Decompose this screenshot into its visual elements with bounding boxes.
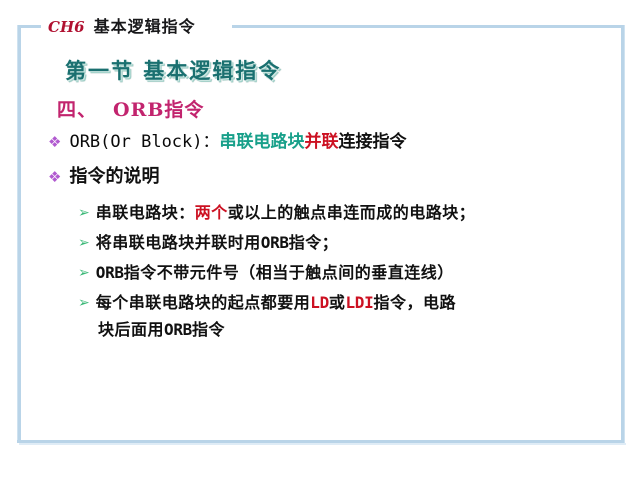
text-segment-mnemonic: ORB bbox=[96, 263, 124, 282]
chapter-title: 基本逻辑指令 bbox=[94, 13, 196, 37]
bullet-segment: ORB(Or Block)： bbox=[69, 132, 219, 152]
frame-border-left bbox=[17, 25, 21, 443]
list-item: ➢ 将串联电路块并联时用ORB指令； bbox=[78, 231, 338, 255]
frame-border-right bbox=[621, 25, 625, 443]
slide-canvas: CH6 基本逻辑指令 第一节 基本逻辑指令 四、ORB指令 ❖ ORB(Or B… bbox=[0, 0, 640, 480]
frame-border-bottom-shadow bbox=[19, 443, 626, 445]
arrow-bullet-icon: ➢ bbox=[78, 231, 90, 255]
bullet-item: ❖ 指令的说明 bbox=[48, 166, 159, 188]
text-segment: 串联电路块： bbox=[96, 203, 195, 222]
diamond-bullet-icon: ❖ bbox=[48, 131, 61, 153]
text-segment-mnemonic-ld: LD bbox=[310, 293, 329, 312]
bullet-item: ❖ ORB(Or Block)：串联电路块并联连接指令 bbox=[48, 131, 407, 153]
list-item: ➢ 串联电路块：两个或以上的触点串连而成的电路块； bbox=[78, 201, 475, 225]
text-segment: 指令 bbox=[192, 320, 225, 339]
text-segment-highlight-red: 两个 bbox=[195, 203, 228, 222]
list-item: ➢ ORB指令不带元件号（相当于触点间的垂直连线） bbox=[78, 261, 454, 285]
frame-border-top-right bbox=[232, 25, 624, 28]
slide-header: CH6 基本逻辑指令 bbox=[48, 13, 196, 37]
text-segment: 每个串联电路块的起点都要用 bbox=[96, 293, 311, 312]
page-title: 四、ORB指令 bbox=[57, 95, 204, 122]
text-segment: 或以上的触点串连而成的电路块； bbox=[228, 203, 476, 222]
list-item-continuation: 块后面用ORB指令 bbox=[98, 318, 225, 342]
heading-number: 四、 bbox=[57, 99, 97, 121]
bullet-text: 指令的说明 bbox=[69, 166, 159, 188]
chapter-tag: CH6 bbox=[48, 18, 85, 36]
arrow-bullet-icon: ➢ bbox=[78, 261, 90, 285]
list-item-text: 串联电路块：两个或以上的触点串连而成的电路块； bbox=[96, 201, 476, 225]
arrow-bullet-icon: ➢ bbox=[78, 201, 90, 225]
text-segment: 块后面用 bbox=[98, 320, 164, 339]
arrow-bullet-icon: ➢ bbox=[78, 291, 90, 315]
list-item: ➢ 每个串联电路块的起点都要用LD或LDI指令，电路 bbox=[78, 291, 456, 315]
text-segment: 指令； bbox=[289, 233, 339, 252]
bullet-segment-highlight-teal: 串联电路块 bbox=[220, 132, 305, 152]
text-segment: 指令不带元件号（相当于触点间的垂直连线） bbox=[124, 263, 454, 282]
list-item-text: 将串联电路块并联时用ORB指令； bbox=[96, 231, 339, 255]
diamond-bullet-icon: ❖ bbox=[48, 166, 61, 188]
list-item-text: ORB指令不带元件号（相当于触点间的垂直连线） bbox=[96, 261, 454, 285]
text-segment-mnemonic: ORB bbox=[261, 233, 289, 252]
text-segment: 将串联电路块并联时用 bbox=[96, 233, 261, 252]
text-segment: 或 bbox=[329, 293, 346, 312]
bullet-segment-highlight-red: 并联 bbox=[305, 132, 339, 152]
bullet-segment: 连接指令 bbox=[339, 132, 407, 152]
text-segment: 指令，电路 bbox=[373, 293, 456, 312]
text-segment-mnemonic-ldi: LDI bbox=[345, 293, 373, 312]
section-title: 第一节 基本逻辑指令 bbox=[65, 55, 281, 85]
text-segment-mnemonic: ORB bbox=[164, 320, 192, 339]
bullet-text: ORB(Or Block)：串联电路块并联连接指令 bbox=[69, 131, 406, 153]
heading-label: ORB指令 bbox=[113, 99, 204, 121]
list-item-text: 每个串联电路块的起点都要用LD或LDI指令，电路 bbox=[96, 291, 456, 315]
